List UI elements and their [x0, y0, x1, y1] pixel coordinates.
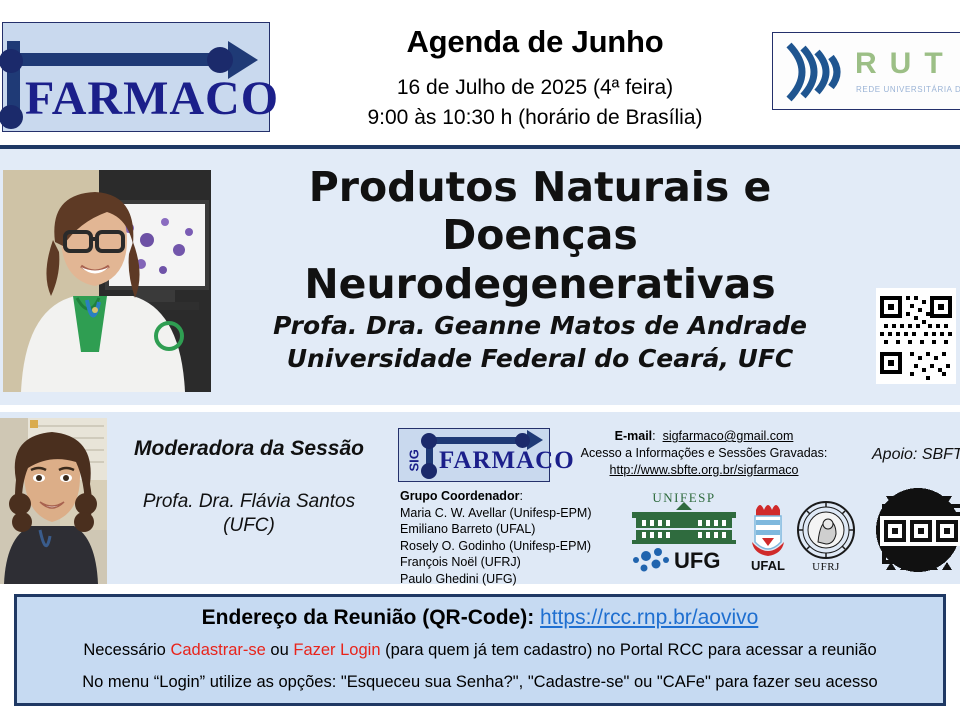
farmaco-sig-label: SIG: [407, 438, 422, 472]
rute-wordmark: RUT: [855, 47, 956, 81]
coordinator-item: Rosely O. Godinho (Unifesp-EPM): [400, 538, 620, 555]
page-title: Agenda de Junho: [300, 24, 770, 60]
coordinator-group: Grupo Coordenador: Maria C. W. Avellar (…: [400, 488, 620, 587]
sig-farmaco-logo-header: FARMACO: [2, 22, 270, 132]
meeting-address-row: Endereço da Reunião (QR-Code): https://r…: [17, 606, 943, 630]
moderator-portrait-image: [0, 418, 107, 584]
email-row: E-mail: sigfarmaco@gmail.com: [556, 428, 852, 445]
coordinator-item: Paulo Ghedini (UFG): [400, 571, 620, 588]
meeting-access-box: Endereço da Reunião (QR-Code): https://r…: [14, 594, 946, 706]
coordinator-heading: Grupo Coordenador:: [400, 488, 620, 505]
sbfte-logo-image: [872, 482, 960, 578]
qr-code-meeting: [876, 288, 956, 384]
meeting-address-label: Endereço da Reunião (QR-Code):: [202, 606, 535, 629]
ufrj-label: UFRJ: [812, 561, 840, 573]
coordinator-heading-colon: :: [519, 489, 522, 503]
rute-wave-icon: [781, 41, 851, 103]
sig-farmaco-logo-lower: SIG FARMACO: [398, 428, 550, 482]
sigfarmaco-site-link[interactable]: http://www.sbfte.org.br/sigfarmaco: [556, 462, 852, 479]
registration-instructions: Necessário Cadastrar-se ou Fazer Login (…: [17, 641, 943, 660]
ufg-dots: [633, 548, 669, 572]
moderator-heading: Moderadora da Sessão: [108, 437, 390, 461]
speaker-name: Profa. Dra. Geanne Matos de Andrade: [230, 310, 850, 343]
moderator-affiliation: (UFC): [108, 514, 390, 538]
university-logos-image: UNIFESP UFG: [622, 490, 862, 582]
ufrj-seal: [798, 502, 854, 558]
login-link[interactable]: Fazer Login: [293, 641, 380, 659]
webinar-announcement-slide: FARMACO Agenda de Junho 16 de Julho de 2…: [0, 0, 960, 720]
registration-text-c: (para quem já tem cadastro) no Portal RC…: [381, 641, 877, 659]
qr-code-image: [876, 288, 956, 384]
farmaco-dot-bottom-small: [421, 463, 437, 479]
speaker-info: Profa. Dra. Geanne Matos de Andrade Univ…: [230, 310, 850, 375]
moderator-name: Profa. Dra. Flávia Santos: [108, 490, 390, 514]
login-menu-instructions: No menu “Login” utilize as opções: "Esqu…: [17, 673, 943, 692]
rute-logo: RUT REDE UNIVERSITÁRIA DE TELEM: [772, 32, 960, 110]
speaker-portrait-image: [3, 170, 211, 392]
farmaco-wordmark-small: FARMACO: [439, 447, 575, 475]
recordings-access-label: Acesso a Informações e Sessões Gravadas:: [556, 445, 852, 462]
speaker-photo: [3, 170, 211, 392]
farmaco-dot-arrow-small: [515, 433, 530, 448]
talk-title: Produtos Naturais e Doenças Neurodegener…: [215, 163, 865, 308]
contact-info: E-mail: sigfarmaco@gmail.com Acesso a In…: [556, 428, 852, 479]
university-logos-group: UNIFESP UFG: [622, 490, 862, 582]
coordinator-item: Maria C. W. Avellar (Unifesp-EPM): [400, 505, 620, 522]
ufal-crest: [752, 505, 784, 556]
coordinator-heading-label: Grupo Coordenador: [400, 489, 519, 503]
farmaco-arrow-shaft-small: [427, 437, 529, 444]
farmaco-dot-top: [0, 49, 23, 73]
support-label: Apoio: SBFT: [872, 446, 960, 464]
moderator-photo: [0, 418, 107, 584]
email-label: E-mail: [615, 429, 653, 443]
registration-text-b: ou: [266, 641, 294, 659]
farmaco-dot-arrow: [207, 47, 233, 73]
ufal-label: UFAL: [751, 558, 785, 573]
ufg-label: UFG: [674, 548, 720, 573]
email-colon: :: [652, 429, 655, 443]
event-date: 16 de Julho de 2025 (4ª feira): [300, 76, 770, 100]
meeting-url-link[interactable]: https://rcc.rnp.br/aovivo: [540, 606, 758, 629]
sbfte-logo: [872, 482, 960, 578]
farmaco-dot-bottom: [0, 105, 23, 129]
farmaco-arrow-shaft: [17, 53, 231, 66]
registration-text-a: Necessário: [83, 641, 170, 659]
email-address-link[interactable]: sigfarmaco@gmail.com: [663, 429, 794, 443]
speaker-affiliation: Universidade Federal do Ceará, UFC: [230, 343, 850, 376]
rute-subtitle: REDE UNIVERSITÁRIA DE TELEM: [856, 85, 960, 94]
coordinator-item: François Noël (UFRJ): [400, 554, 620, 571]
farmaco-dot-top-small: [421, 433, 437, 449]
farmaco-wordmark: FARMACO: [25, 71, 279, 126]
moderator-info: Profa. Dra. Flávia Santos (UFC): [108, 490, 390, 538]
event-time: 9:00 às 10:30 h (horário de Brasília): [300, 106, 770, 130]
coordinator-item: Emiliano Barreto (UFAL): [400, 521, 620, 538]
register-link[interactable]: Cadastrar-se: [170, 641, 265, 659]
